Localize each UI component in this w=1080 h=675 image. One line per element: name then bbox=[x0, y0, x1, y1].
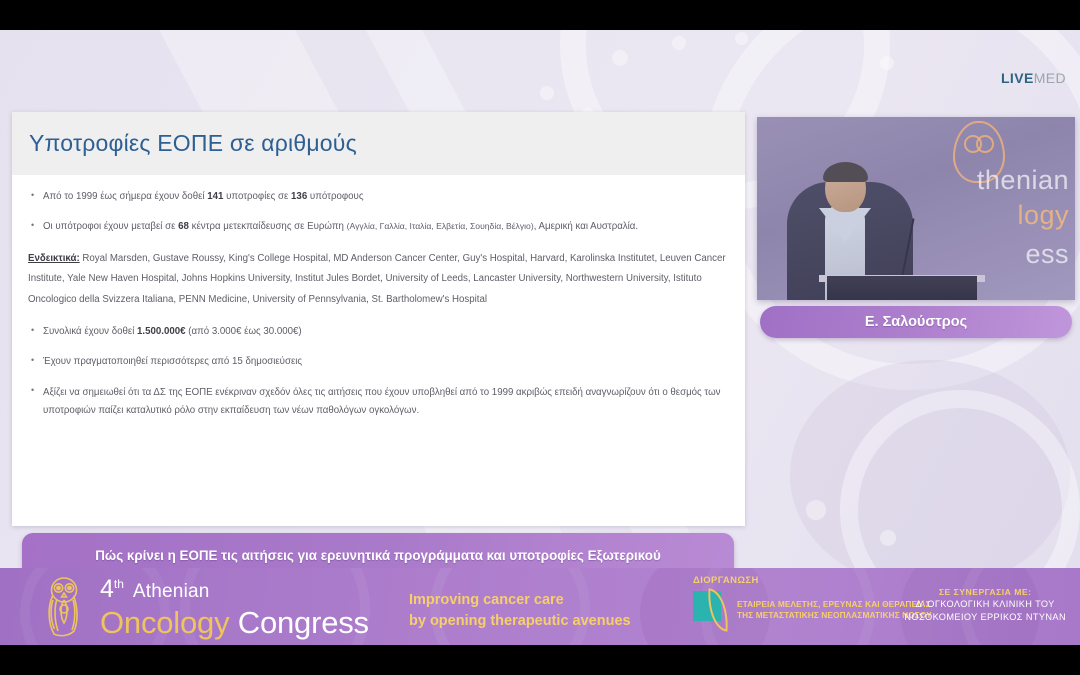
presentation-canvas: LIVEMED Υποτροφίες ΕΟΠΕ σε αριθμούς •Από… bbox=[0, 30, 1080, 568]
congress-edition-number: 4 bbox=[100, 577, 114, 602]
bullet-fragment: , Αμερική και Αυστραλία. bbox=[534, 221, 638, 232]
owl-logo-icon bbox=[38, 576, 90, 638]
bullet-marker-icon: • bbox=[28, 354, 43, 369]
livemed-logo: LIVEMED bbox=[1001, 71, 1066, 85]
slide-card: Υποτροφίες ΕΟΠΕ σε αριθμούς •Από το 1999… bbox=[12, 112, 745, 526]
slide-paragraph-institutions: Ενδεικτικά: Royal Marsden, Gustave Rouss… bbox=[28, 249, 729, 310]
organizer-logo-leaf bbox=[706, 588, 731, 631]
slide-bullet: •Συνολικά έχουν δοθεί 1.500.000€ (από 3.… bbox=[28, 324, 729, 339]
organizer-name-lines: ΕΤΑΙΡΕΙΑ ΜΕΛΕΤΗΣ, ΕΡΕΥΝΑΣ ΚΑΙ ΘΕΡΑΠΕΙΑΣ … bbox=[737, 599, 932, 621]
livemed-logo-med: MED bbox=[1034, 70, 1066, 86]
slide-bullet-list-top: •Από το 1999 έως σήμερα έχουν δοθεί 141 … bbox=[28, 189, 729, 234]
background-dot bbox=[806, 500, 826, 520]
speaker-name-text: Ε. Σαλούστρος bbox=[865, 314, 967, 330]
bullet-marker-icon: • bbox=[28, 384, 43, 420]
bullet-fragment: Αξίζει να σημειωθεί ότι τα ΔΣ της ΕΟΠΕ ε… bbox=[43, 387, 721, 416]
bullet-fragment: Από το 1999 έως σήμερα έχουν δοθεί bbox=[43, 191, 207, 202]
bullet-marker-icon: • bbox=[28, 324, 43, 339]
slide-bullet-text: Συνολικά έχουν δοθεί 1.500.000€ (από 3.0… bbox=[43, 324, 729, 339]
slide-bullet-text: Από το 1999 έως σήμερα έχουν δοθεί 141 υ… bbox=[43, 189, 729, 204]
bullet-fragment: (Αγγλία, Γαλλία, Ιταλία, Ελβετία, Σουηδί… bbox=[347, 221, 534, 231]
congress-oncology-word: Oncology bbox=[100, 605, 229, 640]
background-dot bbox=[735, 32, 748, 45]
bullet-emphasis: 1.500.000€ bbox=[137, 326, 186, 337]
background-dot bbox=[612, 50, 628, 66]
slide-bullet-list-bottom: •Συνολικά έχουν δοθεί 1.500.000€ (από 3.… bbox=[28, 324, 729, 420]
slide-bullet: •Αξίζει να σημειωθεί ότι τα ΔΣ της ΕΟΠΕ … bbox=[28, 384, 729, 420]
bullet-fragment: Έχουν πραγματοποιηθεί περισσότερες από 1… bbox=[43, 356, 302, 367]
bullet-fragment: υπότροφους bbox=[307, 191, 363, 202]
slide-title-band: Υποτροφίες ΕΟΠΕ σε αριθμούς bbox=[12, 112, 745, 175]
collaboration-line-2: ΝΟΣΟΚΟΜΕΙΟΥ ΕΡΡΙΚΟΣ ΝΤΥΝΑΝ bbox=[904, 611, 1066, 624]
congress-tagline-line-1: Improving cancer care bbox=[409, 590, 631, 611]
congress-tagline-line-2: by opening therapeutic avenues bbox=[409, 611, 631, 632]
organizer-logo-icon bbox=[693, 589, 737, 631]
slide-paragraph-lead: Ενδεικτικά: bbox=[28, 253, 80, 264]
bullet-emphasis: 141 bbox=[207, 191, 223, 202]
slide-bullet: •Έχουν πραγματοποιηθεί περισσότερες από … bbox=[28, 354, 729, 369]
bullet-emphasis: 136 bbox=[291, 191, 307, 202]
session-question-text: Πώς κρίνει η ΕΟΠΕ τις αιτήσεις για ερευν… bbox=[95, 547, 661, 565]
slide-body: •Από το 1999 έως σήμερα έχουν δοθεί 141 … bbox=[12, 175, 745, 420]
session-question-banner: Πώς κρίνει η ΕΟΠΕ τις αιτήσεις για ερευν… bbox=[22, 533, 734, 568]
congress-athenian-word: Athenian bbox=[133, 582, 210, 601]
bullet-emphasis: 68 bbox=[178, 221, 189, 232]
congress-title-block: 4 th Athenian Oncology Congress bbox=[100, 577, 369, 638]
congress-edition-suffix: th bbox=[114, 578, 124, 590]
collaboration-line-1: Δ' ΟΓΚΟΛΟΓΙΚΗ ΚΛΙΝΙΚΗ ΤΟΥ bbox=[904, 598, 1066, 611]
organizer-name-line-1: ΕΤΑΙΡΕΙΑ ΜΕΛΕΤΗΣ, ΕΡΕΥΝΑΣ ΚΑΙ ΘΕΡΑΠΕΙΑΣ bbox=[737, 599, 932, 610]
collaboration-label: ΣΕ ΣΥΝΕΡΓΑΣΙΑ ΜΕ: bbox=[904, 586, 1066, 598]
collaboration-block: ΣΕ ΣΥΝΕΡΓΑΣΙΑ ΜΕ: Δ' ΟΓΚΟΛΟΓΙΚΗ ΚΛΙΝΙΚΗ … bbox=[904, 586, 1066, 624]
congress-tagline: Improving cancer care by opening therape… bbox=[409, 590, 631, 632]
congress-edition-line: 4 th Athenian bbox=[100, 577, 369, 602]
speaker-name-badge: Ε. Σαλούστρος bbox=[760, 306, 1072, 338]
conference-branding-bar: 4 th Athenian Oncology Congress Improvin… bbox=[0, 568, 1080, 645]
slide-bullet: •Από το 1999 έως σήμερα έχουν δοθεί 141 … bbox=[28, 189, 729, 204]
slide-bullet-text: Αξίζει να σημειωθεί ότι τα ΔΣ της ΕΟΠΕ ε… bbox=[43, 384, 729, 420]
slide-bullet: •Οι υπότροφοι έχουν μεταβεί σε 68 κέντρα… bbox=[28, 219, 729, 234]
background-dot bbox=[880, 56, 894, 70]
background-dot bbox=[540, 86, 554, 100]
video-overlay bbox=[757, 117, 1075, 300]
speaker-video[interactable]: thenian logy ess bbox=[757, 117, 1075, 300]
livemed-logo-live: LIVE bbox=[1001, 70, 1034, 86]
screen-root: LIVEMED Υποτροφίες ΕΟΠΕ σε αριθμούς •Από… bbox=[0, 0, 1080, 675]
bullet-fragment: Οι υπότροφοι έχουν μεταβεί σε bbox=[43, 221, 178, 232]
bullet-marker-icon: • bbox=[28, 219, 43, 234]
slide-bullet-text: Έχουν πραγματοποιηθεί περισσότερες από 1… bbox=[43, 354, 729, 369]
background-dot bbox=[672, 36, 686, 50]
bullet-fragment: (από 3.000€ έως 30.000€) bbox=[186, 326, 302, 337]
slide-paragraph-text: Royal Marsden, Gustave Roussy, King's Co… bbox=[28, 253, 726, 305]
slide-title: Υποτροφίες ΕΟΠΕ σε αριθμούς bbox=[12, 130, 357, 157]
organizer-block: ΔΙΟΡΓΑΝΩΣΗ ΕΤΑΙΡΕΙΑ ΜΕΛΕΤΗΣ, ΕΡΕΥΝΑΣ ΚΑΙ… bbox=[693, 575, 932, 631]
slide-bullet-text: Οι υπότροφοι έχουν μεταβεί σε 68 κέντρα … bbox=[43, 219, 729, 234]
congress-name-line: Oncology Congress bbox=[100, 607, 369, 638]
bullet-fragment: κέντρα μετεκπαίδευσης σε Ευρώπη bbox=[189, 221, 347, 232]
organizer-label: ΔΙΟΡΓΑΝΩΣΗ bbox=[693, 575, 932, 586]
congress-congress-word: Congress bbox=[229, 605, 369, 640]
organizer-row: ΕΤΑΙΡΕΙΑ ΜΕΛΕΤΗΣ, ΕΡΕΥΝΑΣ ΚΑΙ ΘΕΡΑΠΕΙΑΣ … bbox=[693, 589, 932, 631]
bullet-marker-icon: • bbox=[28, 189, 43, 204]
bullet-fragment: Συνολικά έχουν δοθεί bbox=[43, 326, 137, 337]
background-dot bbox=[880, 530, 896, 546]
organizer-name-line-2: ΤΗΣ ΜΕΤΑΣΤΑΤΙΚΗΣ ΝΕΟΠΛΑΣΜΑΤΙΚΗΣ ΝΟΣΟΥ bbox=[737, 610, 932, 621]
bullet-fragment: υποτροφίες σε bbox=[223, 191, 291, 202]
